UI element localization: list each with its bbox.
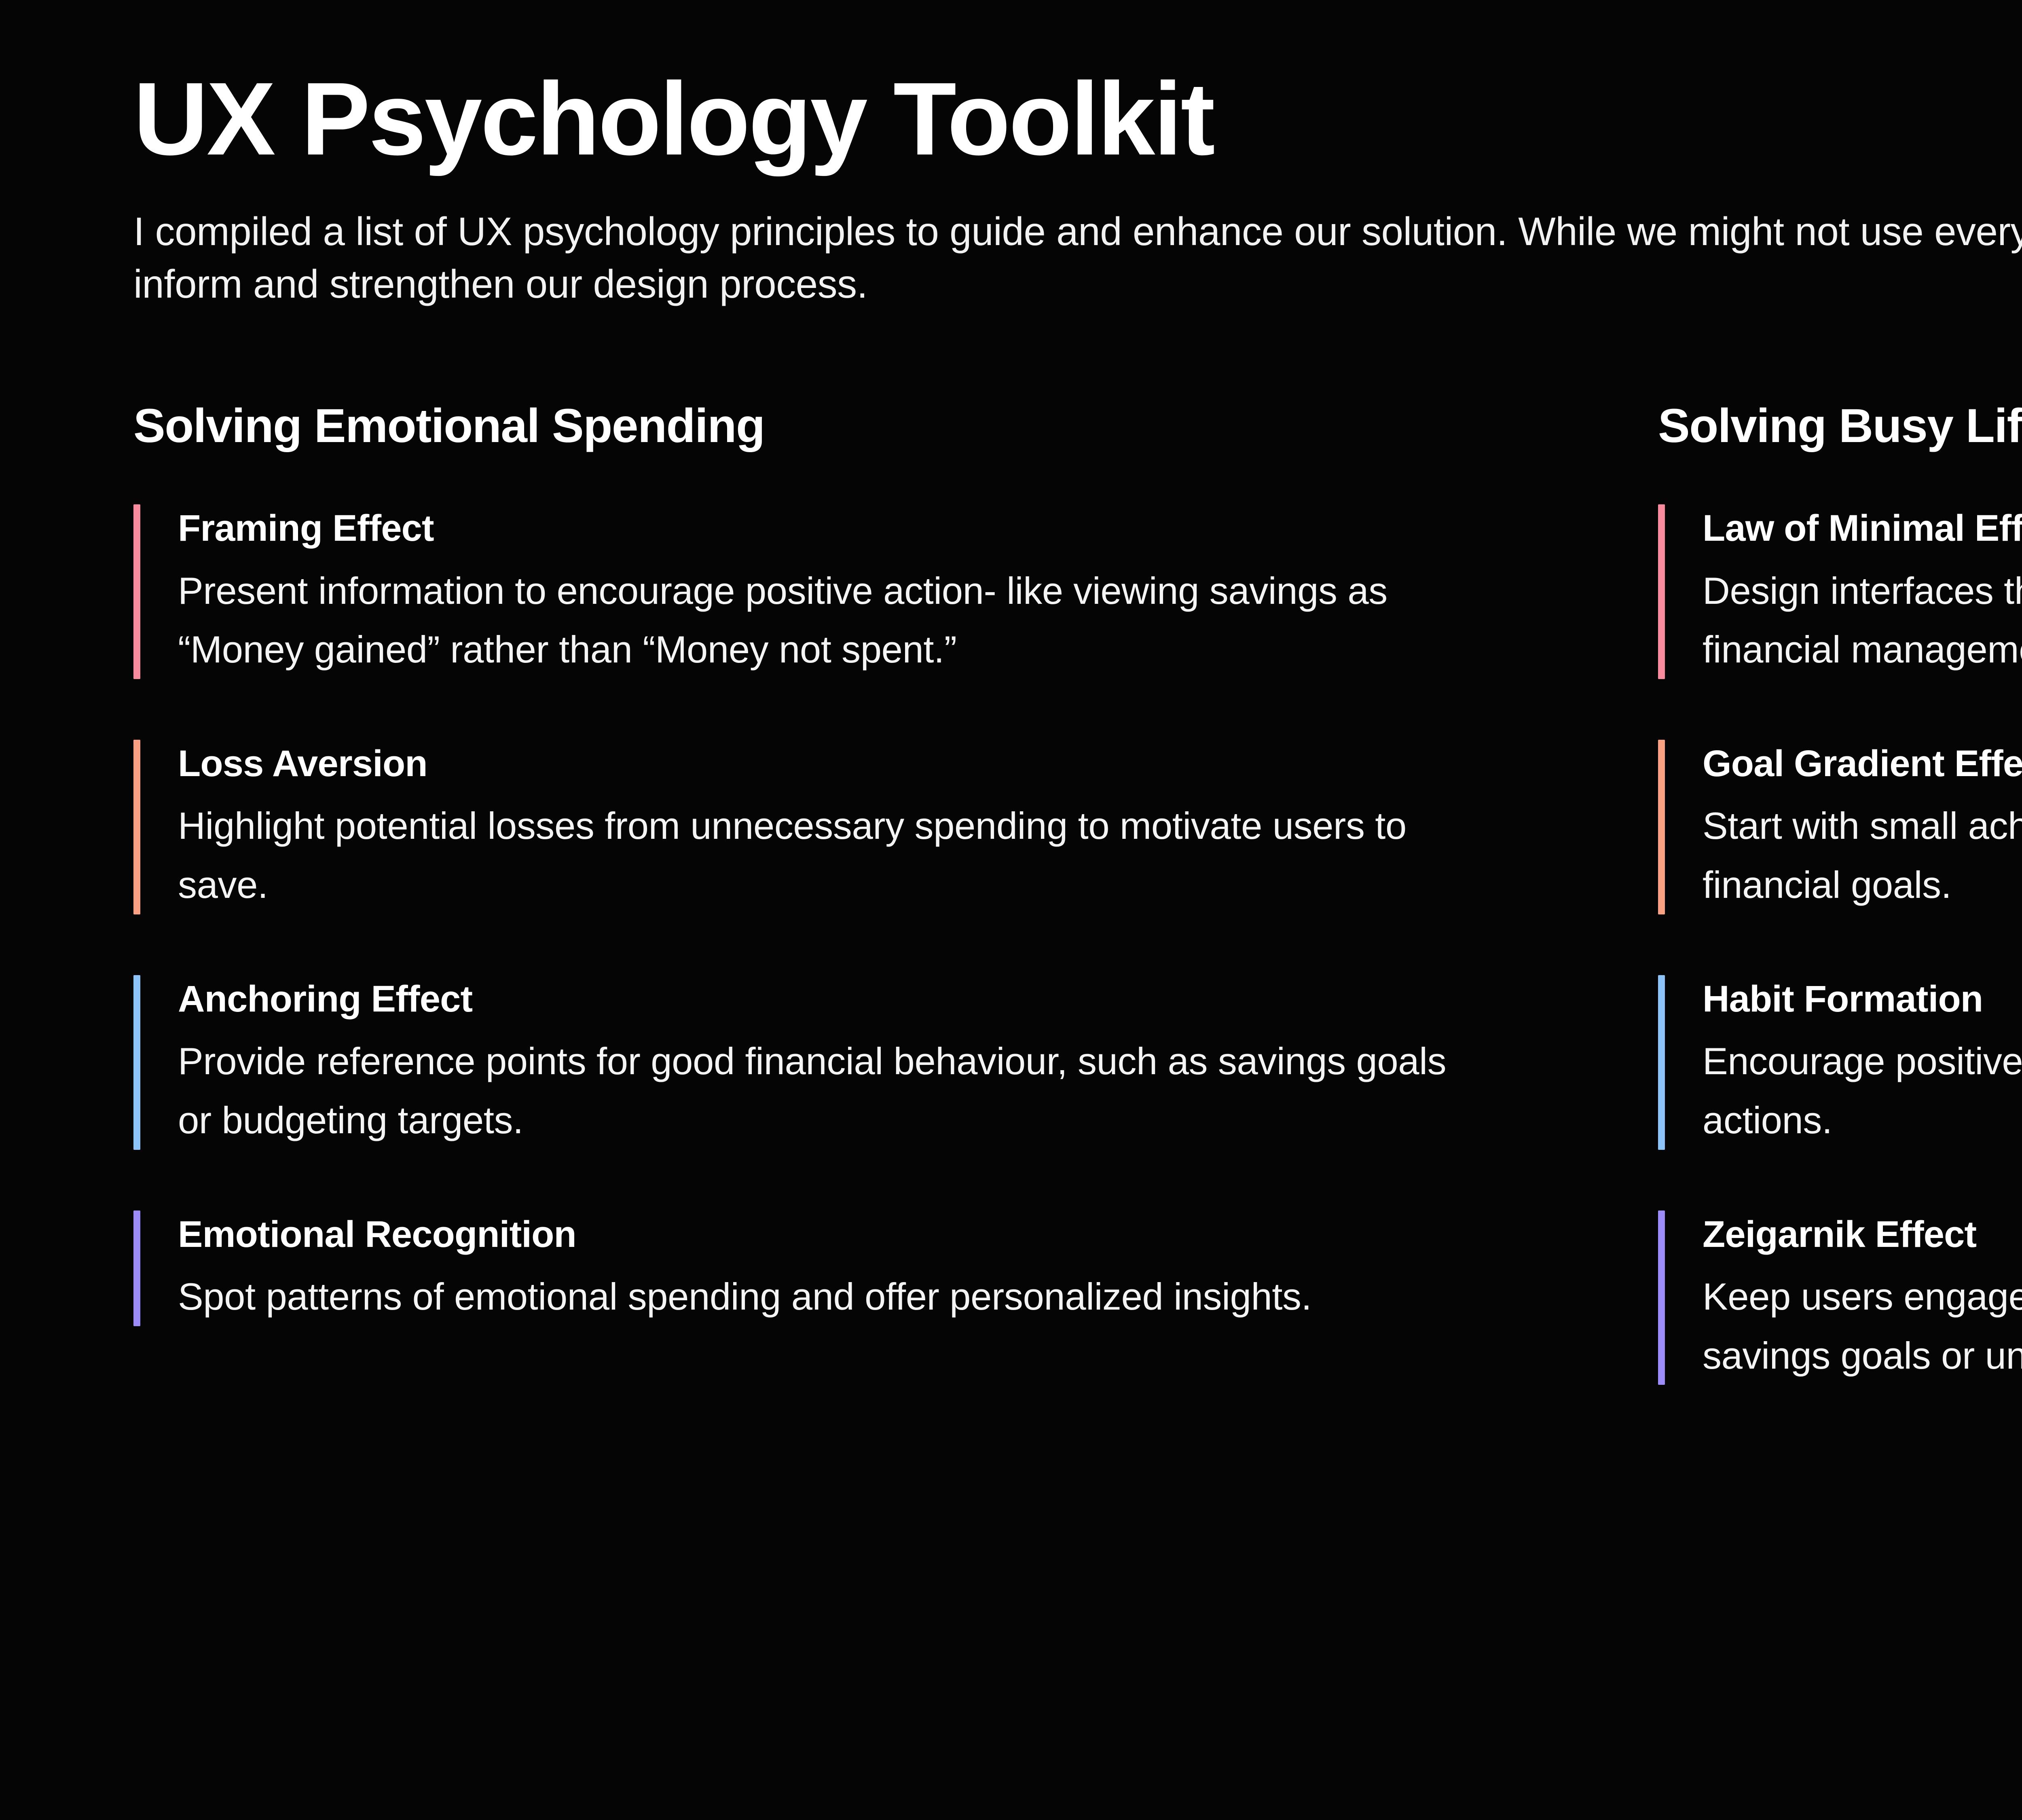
card-body: Anchoring Effect Provide reference point… [178,975,1658,1150]
card-description: Highlight potential losses from unnecess… [178,796,1464,914]
card-body: Goal Gradient Effect Start with small ac… [1703,740,2022,914]
card-body: Law of Minimal Effort Design interfaces … [1703,504,2022,679]
card-title: Loss Aversion [178,741,1658,786]
card-description: Design interfaces that require minimal e… [1703,561,2022,679]
card-body: Loss Aversion Highlight potential losses… [178,740,1658,914]
column-heading-busy-lifestyle: Solving Busy Lifestyle & Procrastination [1658,400,2022,453]
page-title: UX Psychology Toolkit [133,65,2022,174]
card-description: Provide reference points for good financ… [178,1032,1464,1149]
page-subtitle: I compiled a list of UX psychology princ… [133,205,2022,311]
card-description: Start with small achievable commitments … [1703,796,2022,914]
card-list-busy-lifestyle: Law of Minimal Effort Design interfaces … [1658,504,2022,1385]
card-body: Habit Formation Encourage positive finan… [1703,975,2022,1150]
accent-bar [1658,975,1665,1150]
accent-bar [133,740,140,914]
card-body: Zeigarnik Effect Keep users engaged by h… [1703,1211,2022,1385]
card-description: Spot patterns of emotional spending and … [178,1267,1464,1326]
card-title: Law of Minimal Effort [1703,506,2022,550]
column-heading-emotional-spending: Solving Emotional Spending [133,400,1658,453]
accent-bar [1658,504,1665,679]
card-title: Framing Effect [178,506,1658,550]
principle-columns: Solving Emotional Spending Framing Effec… [133,400,2022,1385]
card-list-emotional-spending: Framing Effect Present information to en… [133,504,1658,1326]
card-description: Encourage positive financial habits thro… [1703,1032,2022,1149]
principle-card: Habit Formation Encourage positive finan… [1658,975,2022,1150]
principle-card: Zeigarnik Effect Keep users engaged by h… [1658,1211,2022,1385]
card-title: Anchoring Effect [178,977,1658,1021]
principle-card: Emotional Recognition Spot patterns of e… [133,1211,1658,1326]
accent-bar [1658,1211,1665,1385]
principle-card: Law of Minimal Effort Design interfaces … [1658,504,2022,679]
accent-bar [1658,740,1665,914]
principle-card: Framing Effect Present information to en… [133,504,1658,679]
accent-bar [133,1211,140,1326]
card-body: Emotional Recognition Spot patterns of e… [178,1211,1658,1326]
column-busy-lifestyle: Solving Busy Lifestyle & Procrastination… [1658,400,2022,1385]
card-title: Zeigarnik Effect [1703,1212,2022,1257]
card-title: Goal Gradient Effect [1703,741,2022,786]
principle-card: Anchoring Effect Provide reference point… [133,975,1658,1150]
slide-root: UX Psychology Toolkit I compiled a list … [0,0,2022,1820]
principle-card: Goal Gradient Effect Start with small ac… [1658,740,2022,914]
principle-card: Loss Aversion Highlight potential losses… [133,740,1658,914]
card-description: Present information to encourage positiv… [178,561,1464,679]
card-title: Habit Formation [1703,977,2022,1021]
column-emotional-spending: Solving Emotional Spending Framing Effec… [133,400,1658,1385]
card-title: Emotional Recognition [178,1212,1658,1257]
card-body: Framing Effect Present information to en… [178,504,1658,679]
accent-bar [133,975,140,1150]
card-description: Keep users engaged by highlighting incom… [1703,1267,2022,1385]
accent-bar [133,504,140,679]
